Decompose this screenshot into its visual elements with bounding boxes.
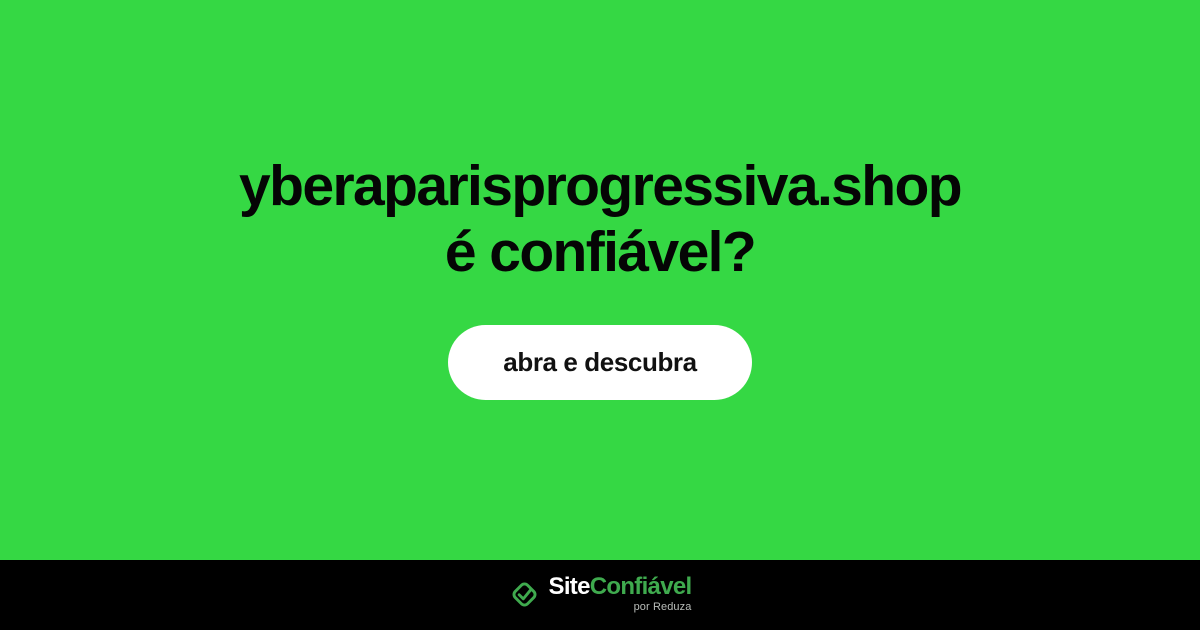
brand-logo[interactable]: SiteConfiável por Reduza: [509, 575, 692, 613]
hero-section: yberaparisprogressiva.shop é confiável? …: [0, 0, 1200, 560]
check-badge-icon: [509, 579, 540, 610]
brand-text-block: SiteConfiável por Reduza: [549, 575, 692, 613]
brand-tagline: por Reduza: [634, 602, 692, 613]
open-and-discover-button[interactable]: abra e descubra: [448, 325, 752, 400]
page-title: yberaparisprogressiva.shop é confiável?: [80, 153, 1120, 285]
brand-name: SiteConfiável: [549, 575, 692, 599]
footer-bar: SiteConfiável por Reduza: [0, 560, 1200, 630]
cta-container: abra e descubra: [0, 325, 1200, 400]
page-title-line-1: yberaparisprogressiva.shop: [80, 153, 1120, 219]
page-title-line-2: é confiável?: [80, 219, 1120, 285]
brand-name-confiavel: Confiável: [590, 573, 692, 600]
brand-name-site: Site: [549, 573, 590, 600]
social-share-card: yberaparisprogressiva.shop é confiável? …: [0, 0, 1200, 630]
